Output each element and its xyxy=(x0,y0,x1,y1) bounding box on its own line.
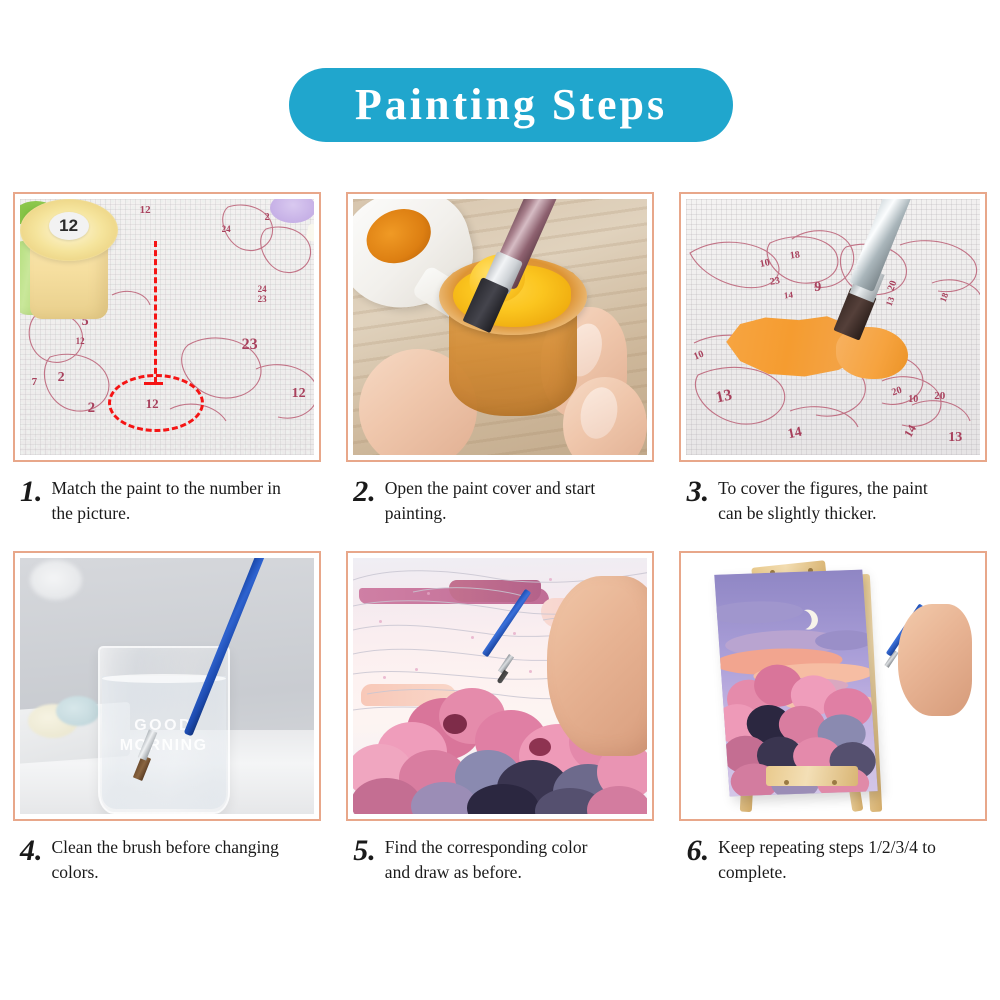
step-5-caption: 5. Find the corresponding color and draw… xyxy=(353,835,653,885)
step-3-image-frame: 10 18 23 14 9 20 13 18 10 20 13 20 10 20 xyxy=(679,192,987,462)
background-object xyxy=(56,696,100,726)
target-number-label: 12 xyxy=(146,397,159,410)
canvas-number: 12 xyxy=(140,205,151,216)
canvas-number: 23 xyxy=(258,295,267,304)
canvas-number: 23 xyxy=(769,276,781,288)
canvas-number: 14 xyxy=(787,426,804,443)
background-object xyxy=(30,560,82,600)
canvas-number: 9 xyxy=(814,281,821,295)
canvas-number: 12 xyxy=(292,387,306,401)
easel-tray xyxy=(766,766,858,786)
paint-number-dot xyxy=(379,620,382,623)
step-6-number: 6. xyxy=(687,835,710,866)
glass-printed-text: GOOD MORNING xyxy=(100,716,228,756)
step-cell-6: 6. Keep repeating steps 1/2/3/4 to compl… xyxy=(667,539,1000,885)
painting-hand xyxy=(898,604,972,716)
canvas-number: 23 xyxy=(242,337,258,353)
step-3-number: 3. xyxy=(687,476,710,507)
page-title-banner: Painting Steps xyxy=(289,68,733,142)
canvas-number: 24 xyxy=(258,285,267,294)
canvas-number: 10 xyxy=(759,258,771,270)
canvas-number: 24 xyxy=(222,225,231,234)
step-4-image-frame: GOOD MORNING xyxy=(13,551,321,821)
finished-canvas-on-easel-photo xyxy=(686,558,980,814)
painting-in-progress-photo xyxy=(353,558,647,814)
glass-text-line-2: MORNING xyxy=(100,736,228,756)
step-4-text: Clean the brush before changing colors. xyxy=(52,835,284,885)
canvas-number: 2 xyxy=(265,213,270,223)
red-dashed-pointer-line xyxy=(154,241,157,383)
canvas-number: 2 xyxy=(58,371,65,385)
step-2-text: Open the paint cover and start painting. xyxy=(385,476,617,526)
step-2-caption: 2. Open the paint cover and start painti… xyxy=(353,476,653,526)
canvas-number: 20 xyxy=(934,391,945,402)
paint-number-dot xyxy=(529,670,532,673)
step-6-text: Keep repeating steps 1/2/3/4 to complete… xyxy=(718,835,950,885)
paint-number-dot xyxy=(513,632,516,635)
step-3-caption: 3. To cover the figures, the paint can b… xyxy=(687,476,987,526)
finished-painting-canvas xyxy=(714,569,877,796)
canvas-number: 7 xyxy=(32,377,38,388)
step-2-number: 2. xyxy=(353,476,376,507)
step-5-number: 5. xyxy=(353,835,376,866)
canvas-number: 18 xyxy=(790,250,801,261)
steps-row-1: 12 24 2 24 7 6 5 12 2 7 2 23 24 23 xyxy=(0,180,1000,526)
paint-number-dot xyxy=(415,668,418,671)
canvas-number: 13 xyxy=(948,431,962,445)
step-1-text: Match the paint to the number in the pic… xyxy=(52,476,284,526)
paint-number-dot xyxy=(383,676,386,679)
step-5-text: Find the corresponding color and draw as… xyxy=(385,835,617,885)
glass-text-line-1: GOOD xyxy=(100,716,228,736)
step-1-caption: 1. Match the paint to the number in the … xyxy=(20,476,320,526)
step-cell-2: 2. Open the paint cover and start painti… xyxy=(333,180,666,526)
step-cell-4: GOOD MORNING 4. Clean the brush before c… xyxy=(0,539,333,885)
canvas-number: 2 xyxy=(88,401,96,416)
step-1-number: 1. xyxy=(20,476,43,507)
open-paint-pot-photo xyxy=(353,199,647,455)
step-3-text: To cover the figures, the paint can be s… xyxy=(718,476,950,526)
pot-number-label: 12 xyxy=(49,212,89,240)
rinse-brush-in-water-glass-photo: GOOD MORNING xyxy=(20,558,314,814)
step-5-image-frame xyxy=(346,551,654,821)
canvas-number: 13 xyxy=(715,388,734,407)
paint-pot-matching-photo: 12 24 2 24 7 6 5 12 2 7 2 23 24 23 xyxy=(20,199,314,455)
steps-grid: 12 24 2 24 7 6 5 12 2 7 2 23 24 23 xyxy=(0,180,1000,884)
canvas-number: 12 xyxy=(76,337,85,346)
canvas-number: 14 xyxy=(784,291,794,301)
brush-applying-paint-photo: 10 18 23 14 9 20 13 18 10 20 13 20 10 20 xyxy=(686,199,980,455)
step-2-image-frame xyxy=(346,192,654,462)
step-4-number: 4. xyxy=(20,835,43,866)
step-cell-3: 10 18 23 14 9 20 13 18 10 20 13 20 10 20 xyxy=(667,180,1000,526)
steps-row-2: GOOD MORNING 4. Clean the brush before c… xyxy=(0,539,1000,885)
step-cell-1: 12 24 2 24 7 6 5 12 2 7 2 23 24 23 xyxy=(0,180,333,526)
page-title: Painting Steps xyxy=(355,83,667,127)
canvas-number: 10 xyxy=(908,395,918,405)
lid-paint-residue xyxy=(358,200,439,273)
step-6-caption: 6. Keep repeating steps 1/2/3/4 to compl… xyxy=(687,835,987,885)
paint-number-dot xyxy=(427,592,430,595)
paint-number-dot xyxy=(471,636,474,639)
paint-number-dot xyxy=(549,578,552,581)
painting-hand xyxy=(547,576,647,756)
step-cell-5: 5. Find the corresponding color and draw… xyxy=(333,539,666,885)
painting-steps-infographic: Painting Steps xyxy=(0,0,1000,1000)
easel-screw xyxy=(784,780,789,785)
step-4-caption: 4. Clean the brush before changing color… xyxy=(20,835,320,885)
step-1-image-frame: 12 24 2 24 7 6 5 12 2 7 2 23 24 23 xyxy=(13,192,321,462)
step-6-image-frame xyxy=(679,551,987,821)
easel-screw xyxy=(832,780,837,785)
